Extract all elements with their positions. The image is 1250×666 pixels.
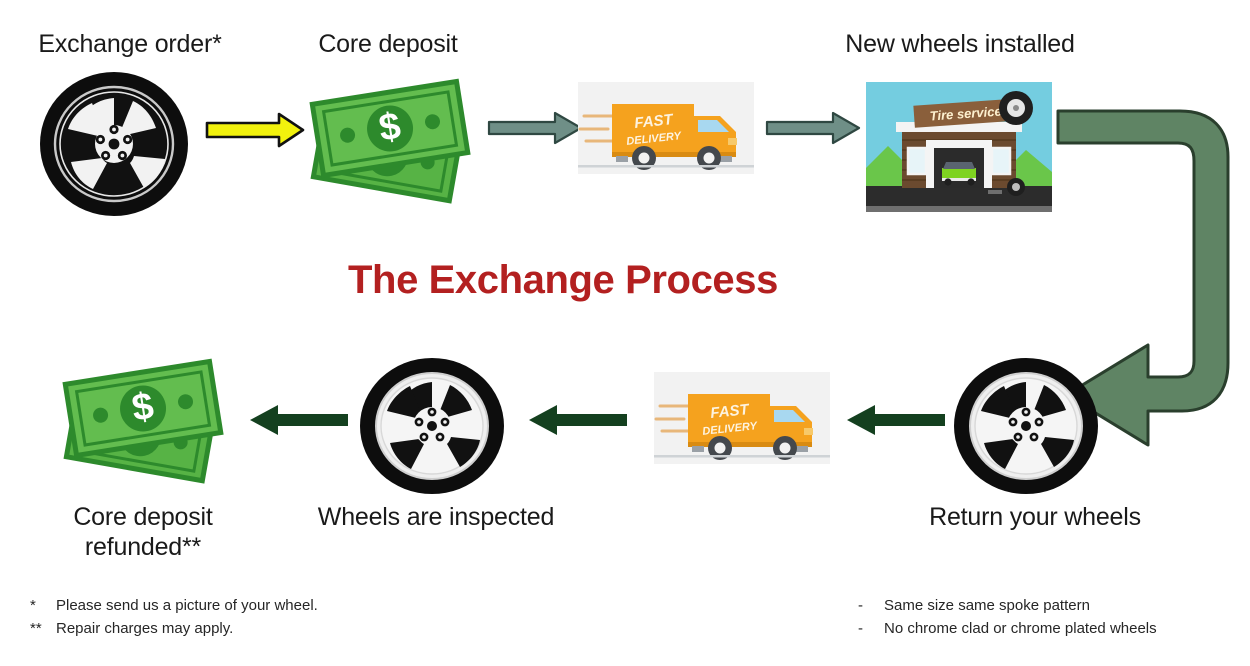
footnotes-left: * Please send us a picture of your wheel…: [30, 594, 318, 641]
footnote-mark: *: [30, 594, 56, 617]
label-new-wheels-installed: New wheels installed: [790, 30, 1130, 60]
footnote-mark: -: [858, 594, 884, 617]
label-core-deposit: Core deposit: [272, 30, 504, 60]
footnote-text: Please send us a picture of your wheel.: [56, 594, 318, 617]
delivery-van-graphic-return: FAST DELIVERY: [654, 372, 830, 464]
arrow-deposit-to-shipping: [487, 110, 583, 146]
footnote-right-item: - Same size same spoke pattern: [858, 594, 1157, 617]
arrow-return-shipping-to-inspected: [525, 402, 629, 438]
wheel-icon-inspected: [358, 356, 506, 496]
label-exchange-order: Exchange order*: [0, 30, 260, 60]
footnote-text: No chrome clad or chrome plated wheels: [884, 617, 1157, 640]
footnotes-right: - Same size same spoke pattern - No chro…: [858, 594, 1157, 641]
money-icon-refund: $ $: [58, 356, 234, 484]
page-title: The Exchange Process: [348, 258, 778, 303]
label-core-deposit-refunded-line1: Core deposit: [73, 503, 212, 531]
wheel-icon-return: [952, 356, 1100, 496]
delivery-van-graphic-outbound: FAST DELIVERY: [578, 82, 754, 174]
footnote-left-item: ** Repair charges may apply.: [30, 617, 318, 640]
arrow-shipping-to-install: [765, 110, 861, 146]
arrow-return-to-shipping: [843, 402, 947, 438]
footnote-text: Same size same spoke pattern: [884, 594, 1090, 617]
money-icon-core-deposit: $ $: [305, 76, 481, 204]
footnote-right-item: - No chrome clad or chrome plated wheels: [858, 617, 1157, 640]
arrow-inspected-to-refund: [246, 402, 350, 438]
tire-shop-graphic: Tire service: [866, 82, 1052, 212]
wheel-icon-exchange-order: [38, 70, 190, 218]
exchange-process-diagram: Exchange order*: [0, 0, 1250, 666]
label-core-deposit-refunded: Core deposit refunded**: [30, 503, 256, 562]
footnote-text: Repair charges may apply.: [56, 617, 233, 640]
footnote-left-item: * Please send us a picture of your wheel…: [30, 594, 318, 617]
arrow-order-to-deposit: [205, 112, 305, 148]
label-wheels-are-inspected: Wheels are inspected: [290, 503, 582, 533]
label-return-your-wheels: Return your wheels: [890, 503, 1180, 533]
label-core-deposit-refunded-line2: refunded**: [85, 533, 201, 561]
footnote-mark: **: [30, 617, 56, 640]
footnote-mark: -: [858, 617, 884, 640]
